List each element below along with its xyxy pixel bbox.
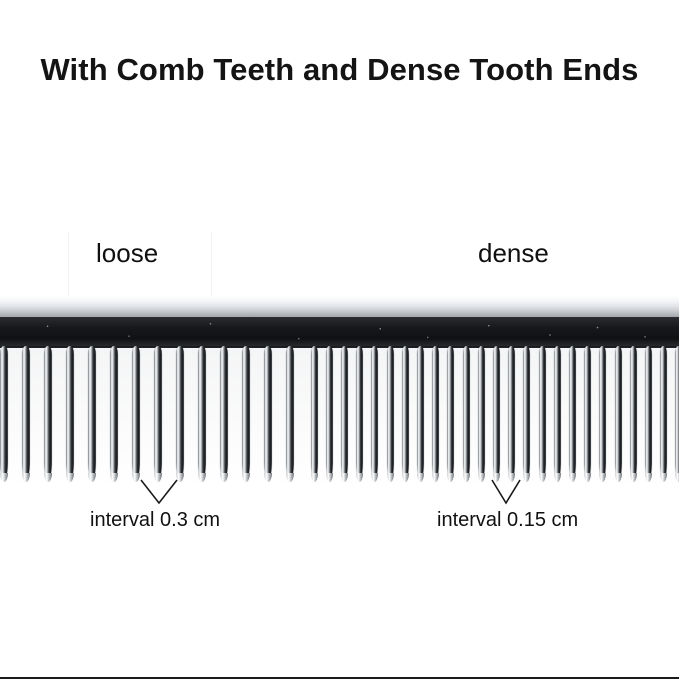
comb-tooth-loose <box>264 346 272 480</box>
comb-tooth-dense <box>599 346 606 480</box>
comb-tooth-loose <box>0 346 8 480</box>
comb-tooth-dense <box>554 346 561 480</box>
comb-tooth-dense <box>311 346 318 480</box>
comb-tooth-dense <box>432 346 439 480</box>
comb-tooth-loose <box>22 346 30 480</box>
comb-teeth-group <box>0 296 679 488</box>
comb-tooth-dense <box>645 346 652 480</box>
comb-tooth-loose <box>176 346 184 480</box>
section-label-dense: dense <box>478 238 549 269</box>
comb-tooth-loose <box>154 346 162 480</box>
comb-tooth-dense <box>463 346 470 480</box>
comb-tooth-dense <box>508 346 515 480</box>
comb-tooth-dense <box>523 346 530 480</box>
comb-tooth-loose <box>110 346 118 480</box>
comb-tooth-dense <box>569 346 576 480</box>
page-title: With Comb Teeth and Dense Tooth Ends <box>0 52 679 88</box>
comb-tooth-loose <box>66 346 74 480</box>
comb-tooth-dense <box>493 346 500 480</box>
guide-line-right <box>211 232 212 296</box>
callout-marker-dense <box>489 478 523 506</box>
comb-tooth-dense <box>371 346 378 480</box>
comb-tooth-dense <box>341 346 348 480</box>
comb-tooth-dense <box>417 346 424 480</box>
comb-tooth-dense <box>387 346 394 480</box>
guide-line-left <box>68 232 69 296</box>
comb-tooth-loose <box>88 346 96 480</box>
comb-tooth-dense <box>326 346 333 480</box>
section-label-loose: loose <box>96 238 158 269</box>
comb-tooth-loose <box>286 346 294 480</box>
comb-tooth-loose <box>198 346 206 480</box>
comb-tooth-dense <box>615 346 622 480</box>
comb-product-image: With Comb Teeth and Dense Tooth Ends loo… <box>0 0 679 679</box>
comb-tooth-dense <box>539 346 546 480</box>
comb-tooth-dense <box>402 346 409 480</box>
comb-tooth-loose <box>132 346 140 480</box>
comb-photo <box>0 296 679 488</box>
comb-tooth-dense <box>584 346 591 480</box>
comb-tooth-loose <box>44 346 52 480</box>
interval-caption-dense: interval 0.15 cm <box>437 509 578 532</box>
interval-caption-loose: interval 0.3 cm <box>90 509 220 532</box>
comb-tooth-loose <box>242 346 250 480</box>
comb-tooth-dense <box>356 346 363 480</box>
comb-tooth-dense <box>675 346 679 480</box>
comb-tooth-loose <box>220 346 228 480</box>
comb-tooth-dense <box>630 346 637 480</box>
comb-tooth-dense <box>478 346 485 480</box>
comb-tooth-dense <box>447 346 454 480</box>
comb-tooth-dense <box>660 346 667 480</box>
callout-marker-loose <box>138 478 180 506</box>
